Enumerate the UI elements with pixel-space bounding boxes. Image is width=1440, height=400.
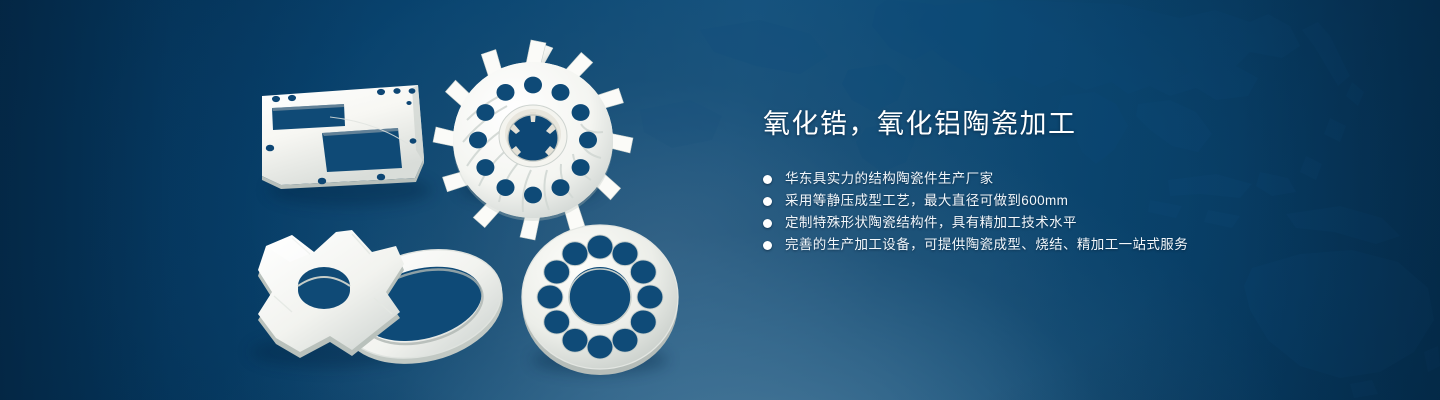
bullet-dot-icon [763,241,772,250]
bullet-dot-icon [763,197,772,206]
list-item: 定制特殊形状陶瓷结构件，具有精加工技术水平 [763,212,1383,234]
list-item: 华东具实力的结构陶瓷件生产厂家 [763,168,1383,190]
hero-banner: 氧化锆，氧化铝陶瓷加工 华东具实力的结构陶瓷件生产厂家 采用等静压成型工艺，最大… [0,0,1440,400]
bullet-dot-icon [763,219,772,228]
feature-text: 定制特殊形状陶瓷结构件，具有精加工技术水平 [785,212,1077,234]
product-photo-group [0,0,740,400]
feature-text: 采用等静压成型工艺，最大直径可做到600mm [785,190,1068,212]
list-item: 完善的生产加工设备，可提供陶瓷成型、烧结、精加工一站式服务 [763,234,1383,256]
feature-text: 完善的生产加工设备，可提供陶瓷成型、烧结、精加工一站式服务 [785,234,1188,256]
feature-text: 华东具实力的结构陶瓷件生产厂家 [785,168,994,190]
ceramic-plate-part [262,85,424,189]
banner-text-block: 氧化锆，氧化铝陶瓷加工 华东具实力的结构陶瓷件生产厂家 采用等静压成型工艺，最大… [763,108,1383,256]
list-item: 采用等静压成型工艺，最大直径可做到600mm [763,190,1383,212]
ceramic-perforated-disc-part [522,225,678,375]
ceramic-impeller-part [433,40,633,240]
feature-list: 华东具实力的结构陶瓷件生产厂家 采用等静压成型工艺，最大直径可做到600mm 定… [763,168,1383,256]
page-title: 氧化锆，氧化铝陶瓷加工 [763,108,1383,140]
bullet-dot-icon [763,175,772,184]
